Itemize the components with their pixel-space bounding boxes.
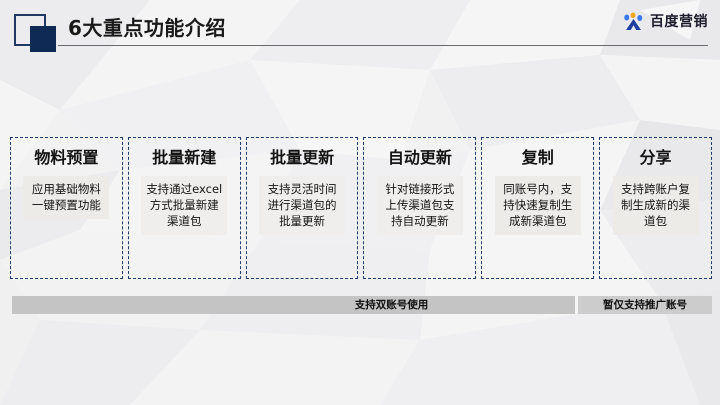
capability-bar-promo-account: 暂仅支持推广账号 bbox=[578, 296, 712, 314]
feature-card-6[interactable]: 分享 支持跨账户复制生成新的渠道包 bbox=[599, 137, 712, 279]
feature-card-title: 物料预置 bbox=[34, 147, 98, 169]
feature-card-title: 批量更新 bbox=[270, 147, 334, 169]
brand-logo: 百度营销 bbox=[623, 12, 708, 32]
feature-card-body: 针对链接形式上传渠道包支持自动更新 bbox=[377, 176, 463, 235]
feature-card-title: 复制 bbox=[522, 147, 554, 169]
feature-card-body: 应用基础物料一键预置功能 bbox=[23, 176, 109, 219]
feature-card-body: 支持灵活时间进行渠道包的批量更新 bbox=[259, 176, 345, 235]
brand-name: 百度营销 bbox=[650, 12, 708, 32]
feature-card-4[interactable]: 自动更新 针对链接形式上传渠道包支持自动更新 bbox=[363, 137, 476, 279]
feature-card-3[interactable]: 批量更新 支持灵活时间进行渠道包的批量更新 bbox=[246, 137, 359, 279]
title-underline bbox=[58, 45, 708, 46]
feature-card-title: 自动更新 bbox=[388, 147, 452, 169]
feature-card-body: 支持跨账户复制生成新的渠道包 bbox=[613, 176, 699, 235]
feature-card-2[interactable]: 批量新建 支持通过excel方式批量新建渠道包 bbox=[128, 137, 241, 279]
decoration-square-filled bbox=[30, 26, 56, 52]
feature-card-title: 分享 bbox=[640, 147, 672, 169]
capability-bar-dual-account: 支持双账号使用 bbox=[12, 296, 575, 314]
feature-card-5[interactable]: 复制 同账号内，支持快速复制生成新渠道包 bbox=[481, 137, 594, 279]
feature-card-row: 物料预置 应用基础物料一键预置功能 批量新建 支持通过excel方式批量新建渠道… bbox=[10, 137, 712, 279]
slide-header: 6大重点功能介绍 百度营销 bbox=[0, 0, 720, 56]
feature-card-body: 支持通过excel方式批量新建渠道包 bbox=[141, 176, 227, 235]
baidu-paw-icon bbox=[623, 12, 645, 32]
feature-card-body: 同账号内，支持快速复制生成新渠道包 bbox=[495, 176, 581, 235]
feature-card-title: 批量新建 bbox=[152, 147, 216, 169]
slide: 6大重点功能介绍 百度营销 物料预置 应用基础物料一键预置功能 批量新建 支持通… bbox=[0, 0, 720, 405]
capability-bar-left-label: 支持双账号使用 bbox=[355, 296, 429, 314]
feature-card-1[interactable]: 物料预置 应用基础物料一键预置功能 bbox=[10, 137, 123, 279]
capability-bar-right-label: 暂仅支持推广账号 bbox=[603, 296, 687, 314]
page-title: 6大重点功能介绍 bbox=[68, 14, 226, 42]
